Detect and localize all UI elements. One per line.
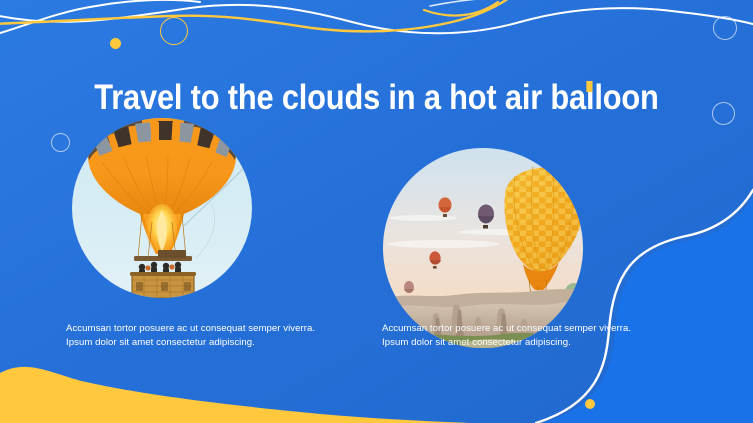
ring-outline-yellow-top-left <box>160 17 188 45</box>
slide-title: Travel to the clouds in a hot air balloo… <box>45 79 708 117</box>
ring-outline-white-left <box>51 133 70 152</box>
ring-outline-white-top-right <box>713 16 737 40</box>
caption-left: Accumsan tortor posuere ac ut consequat … <box>66 322 322 351</box>
slide-canvas: Travel to the clouds in a hot air balloo… <box>0 0 753 423</box>
photo-cappadocia-balloon <box>383 148 583 348</box>
dot-yellow-bottom-left <box>30 369 41 380</box>
slide-title-accent-letter: l <box>586 79 594 117</box>
slide-title-part1: Travel to the clouds in a hot air ba <box>94 78 586 117</box>
slide-title-part2: loon <box>594 78 658 117</box>
dot-yellow-bottom-right <box>585 399 595 409</box>
photo-orange-balloon <box>72 118 252 298</box>
distant-balloon-4 <box>404 281 414 293</box>
ring-outline-white-right <box>712 102 735 125</box>
caption-right: Accumsan tortor posuere ac ut consequat … <box>382 322 638 351</box>
dot-yellow-top-left <box>110 38 121 49</box>
